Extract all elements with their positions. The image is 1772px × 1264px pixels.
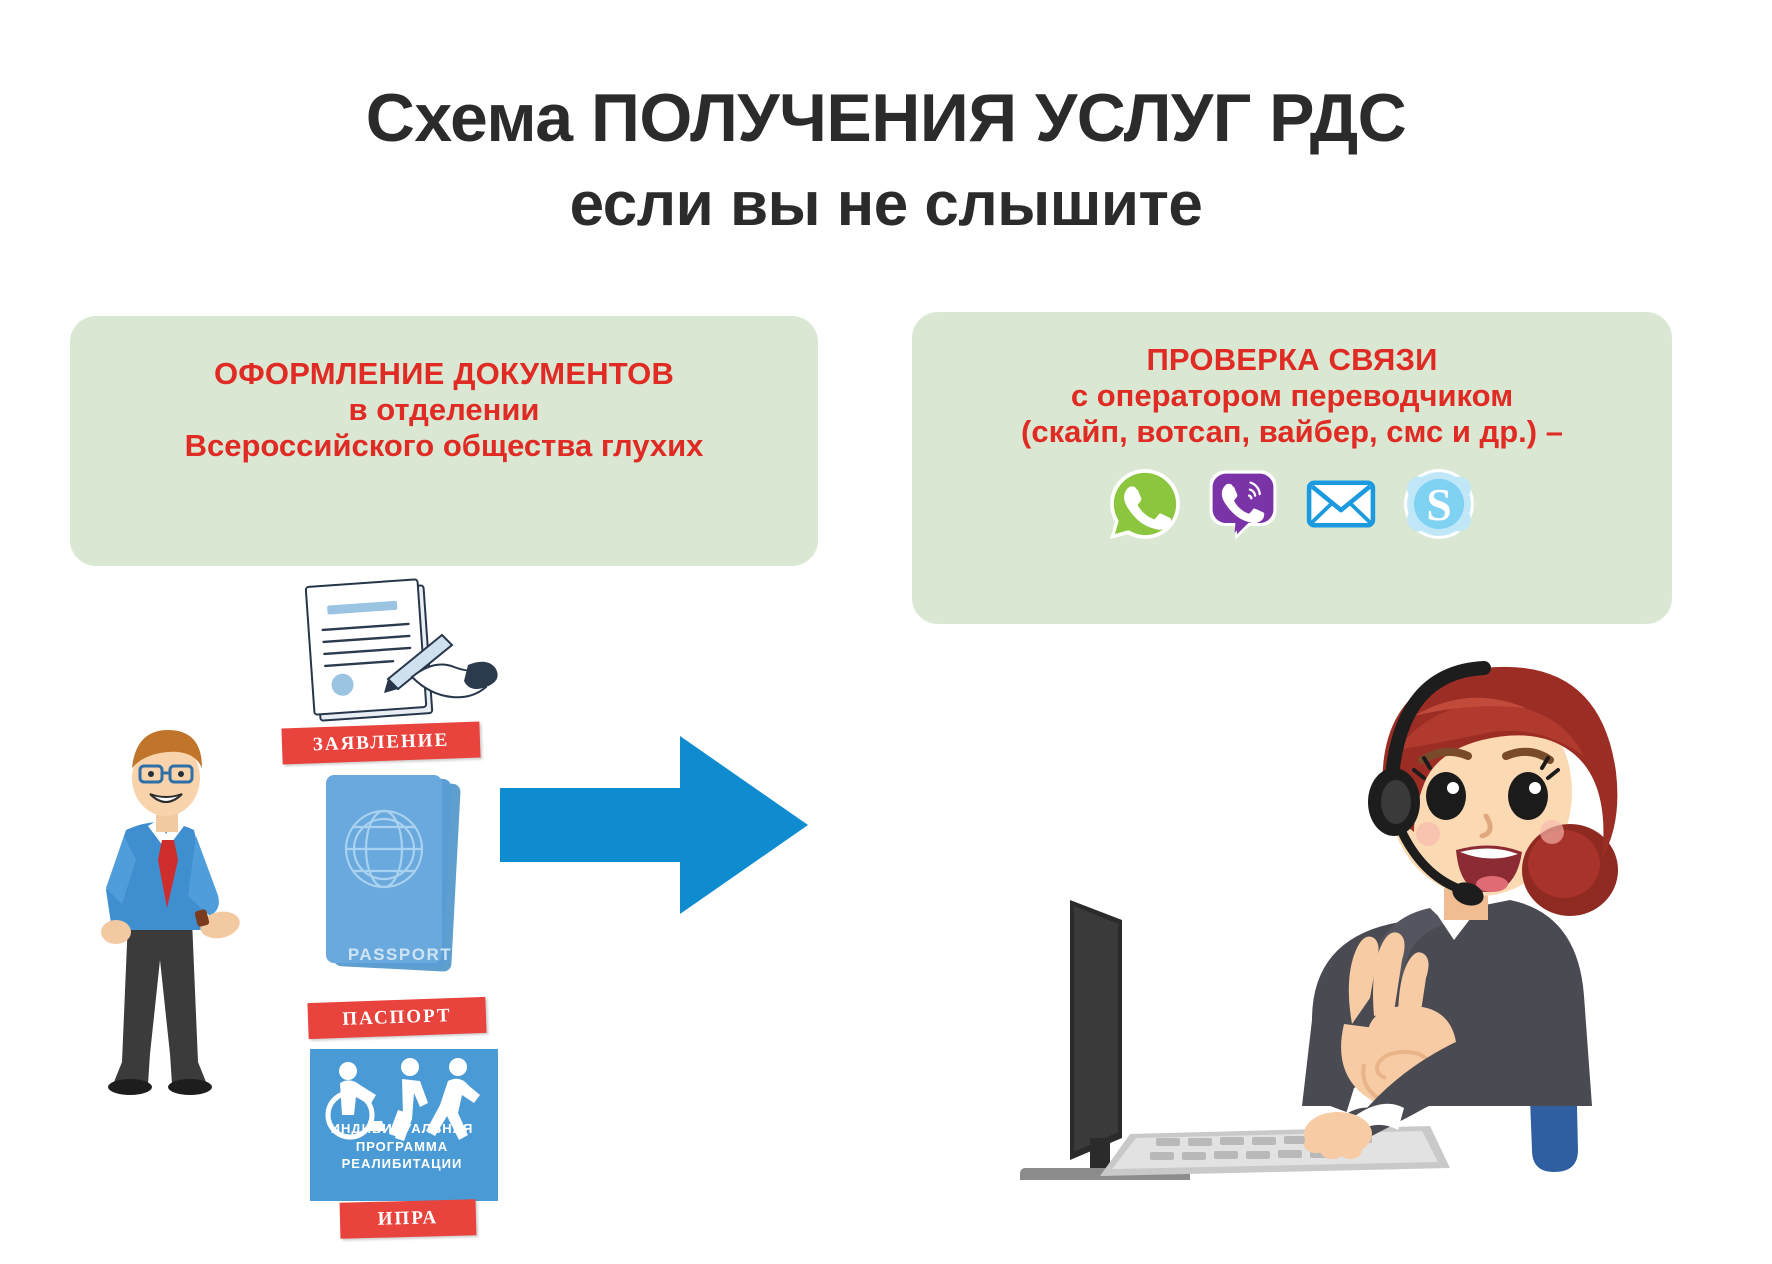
skype-icon[interactable]: S <box>1401 466 1477 542</box>
right-panel-line-3: (скайп, вотсап, вайбер, смс и др.) – <box>912 414 1672 450</box>
svg-text:S: S <box>1426 479 1451 530</box>
stamp-passport: ПАСПОРТ <box>307 997 486 1039</box>
ipr-card-line-3: РЕАЛИБИТАЦИИ <box>310 1155 494 1173</box>
right-panel-line-2: с оператором переводчиком <box>912 378 1672 414</box>
page-title: Схема ПОЛУЧЕНИЯ УСЛУГ РДС если вы не слы… <box>0 84 1772 236</box>
email-icon[interactable] <box>1303 466 1379 542</box>
viber-icon[interactable] <box>1205 466 1281 542</box>
panel-document-registration: ОФОРМЛЕНИЕ ДОКУМЕНТОВ в отделении Всерос… <box>70 316 818 566</box>
left-panel-line-2: в отделении <box>70 392 818 428</box>
title-prefix: Схема <box>366 80 591 156</box>
man-figure-illustration <box>70 710 260 1110</box>
left-panel-line-3: Всероссийского общества глухих <box>70 428 818 464</box>
left-panel-heading: ОФОРМЛЕНИЕ ДОКУМЕНТОВ <box>70 356 818 392</box>
passport-cover-word: PASSPORT <box>320 945 480 965</box>
title-main: ПОЛУЧЕНИЯ УСЛУГ РДС <box>591 80 1406 156</box>
whatsapp-icon[interactable] <box>1107 466 1183 542</box>
stamp-ipra: ИПРА <box>340 1199 477 1239</box>
ipr-card-line-2: ПРОГРАММА <box>310 1138 494 1156</box>
ipr-card-line-1: ИНДИВИДУАЛЬНАЯ <box>310 1120 494 1138</box>
documents-stack: ЗАЯВЛЕНИЕ PASSPORT ПАСПОРТ <box>300 575 510 1215</box>
application-paper-icon <box>292 575 507 725</box>
operator-illustration <box>960 620 1660 1180</box>
stamp-zayavlenie: ЗАЯВЛЕНИЕ <box>281 722 480 765</box>
messenger-icon-row: S <box>912 466 1672 542</box>
title-line-2: если вы не слышите <box>0 174 1772 236</box>
right-panel-heading: ПРОВЕРКА СВЯЗИ <box>912 342 1672 378</box>
flow-arrow <box>500 730 810 920</box>
panel-connection-check: ПРОВЕРКА СВЯЗИ с оператором переводчиком… <box>912 312 1672 624</box>
ipr-card-text: ИНДИВИДУАЛЬНАЯ ПРОГРАММА РЕАЛИБИТАЦИИ <box>310 1120 494 1173</box>
title-line-1: Схема ПОЛУЧЕНИЯ УСЛУГ РДС <box>0 84 1772 152</box>
